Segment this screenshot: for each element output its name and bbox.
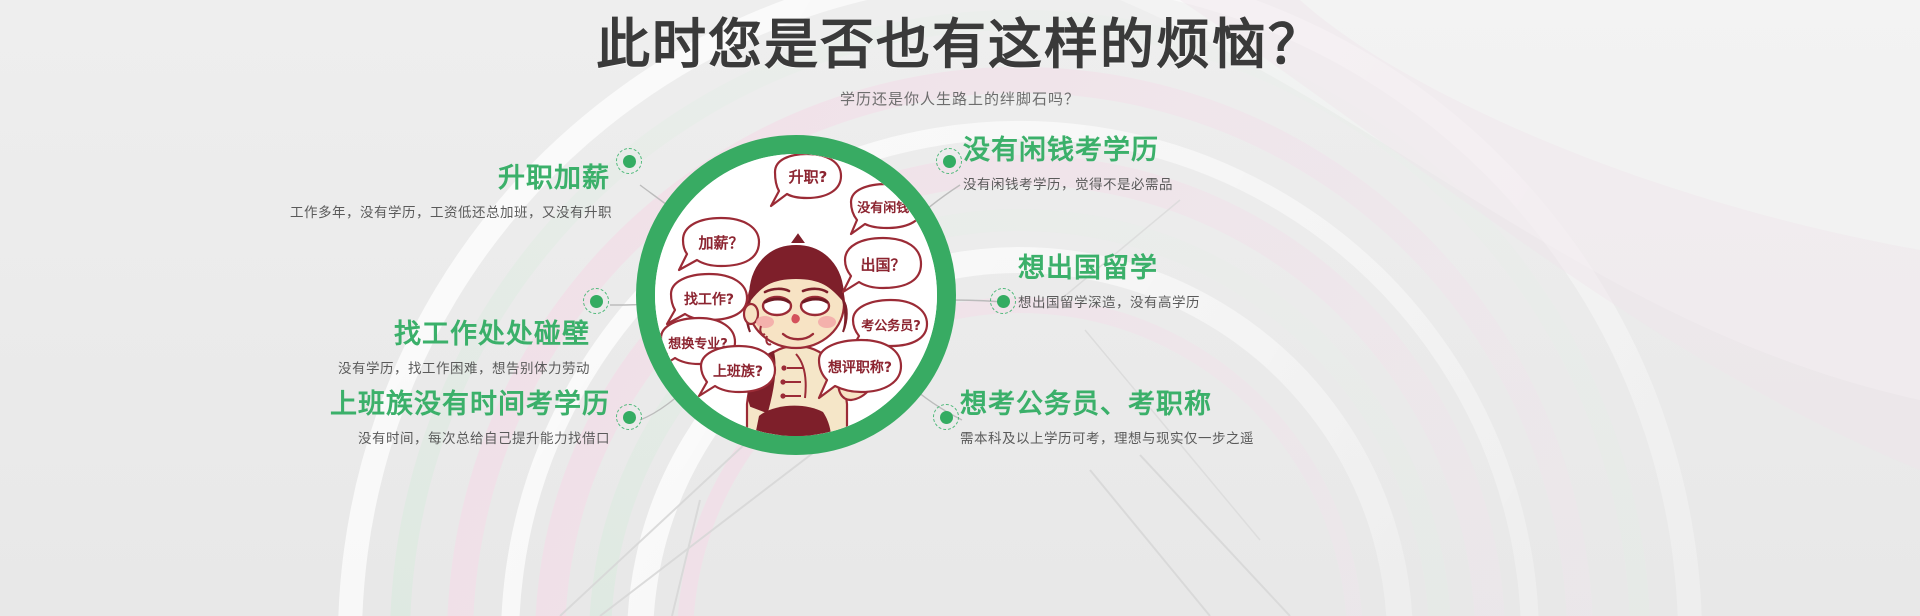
concern-item-right-2[interactable]: 想考公务员、考职称 需本科及以上学历可考，理想与现实仅一步之遥 xyxy=(960,388,1380,447)
banner-stage: 此时您是否也有这样的烦恼？ 学历还是你人生路上的绊脚石吗？ .bb{fill:#… xyxy=(0,0,1920,616)
bubble-chuguo: 出国？ xyxy=(843,238,921,292)
concern-desc: 没有学历，找工作困难，想告别体力劳动 xyxy=(270,357,590,377)
svg-text:想评职称?: 想评职称? xyxy=(827,359,892,376)
concern-item-left-1[interactable]: 找工作处处碰壁 没有学历，找工作困难，想告别体力劳动 xyxy=(270,318,590,377)
page-title: 此时您是否也有这样的烦恼？ xyxy=(0,14,1920,76)
header-block: 此时您是否也有这样的烦恼？ 学历还是你人生路上的绊脚石吗？ xyxy=(0,14,1920,109)
bubble-zhaogongzuo: 找工作? xyxy=(667,274,747,324)
concern-title: 想出国留学 xyxy=(1018,252,1398,284)
concern-desc: 没有闲钱考学历，觉得不是必需品 xyxy=(963,173,1343,193)
svg-text:加薪？: 加薪？ xyxy=(697,234,743,252)
marker-right-2 xyxy=(933,404,959,430)
concern-item-left-2[interactable]: 上班族没有时间考学历 没有时间，每次总给自己提升能力找借口 xyxy=(250,388,610,447)
marker-left-1 xyxy=(583,288,609,314)
center-ring: .bb{fill:#ffffff;stroke:#9b2b36;stroke-w… xyxy=(636,135,956,455)
marker-left-0 xyxy=(616,148,642,174)
marker-right-1 xyxy=(990,288,1016,314)
svg-text:上班族?: 上班族? xyxy=(713,363,763,380)
concern-title: 找工作处处碰壁 xyxy=(270,318,590,350)
svg-text:找工作?: 找工作? xyxy=(684,291,734,308)
concern-title: 没有闲钱考学历 xyxy=(963,134,1343,166)
concern-title: 上班族没有时间考学历 xyxy=(250,388,610,420)
svg-text:没有闲钱?: 没有闲钱? xyxy=(857,200,917,216)
concern-item-right-1[interactable]: 想出国留学 想出国留学深造，没有高学历 xyxy=(1018,252,1398,311)
marker-right-0 xyxy=(936,148,962,174)
bubble-jiaxin: 加薪？ xyxy=(679,218,759,270)
illustration-container: .bb{fill:#ffffff;stroke:#9b2b36;stroke-w… xyxy=(655,154,937,436)
concern-desc: 想出国留学深造，没有高学历 xyxy=(1018,291,1398,311)
concern-title: 升职加薪 xyxy=(290,162,610,194)
page-subtitle: 学历还是你人生路上的绊脚石吗？ xyxy=(0,88,1920,109)
concern-desc: 没有时间，每次总给自己提升能力找借口 xyxy=(250,427,610,447)
concern-item-left-0[interactable]: 升职加薪 工作多年，没有学历，工资低还总加班，又没有升职 xyxy=(290,162,610,221)
bubble-meiyouxianqian: 没有闲钱? xyxy=(851,184,923,234)
cartoon-illustration: .bb{fill:#ffffff;stroke:#9b2b36;stroke-w… xyxy=(655,154,937,436)
bubble-xiangpingzhicheng: 想评职称? xyxy=(819,340,901,398)
concern-desc: 工作多年，没有学历，工资低还总加班，又没有升职 xyxy=(290,201,610,221)
svg-text:考公务员?: 考公务员? xyxy=(861,318,921,334)
svg-text:升职?: 升职? xyxy=(789,168,828,186)
svg-text:出国？: 出国？ xyxy=(860,256,905,274)
marker-left-2 xyxy=(616,404,642,430)
concern-item-right-0[interactable]: 没有闲钱考学历 没有闲钱考学历，觉得不是必需品 xyxy=(963,134,1343,193)
concern-desc: 需本科及以上学历可考，理想与现实仅一步之遥 xyxy=(960,427,1380,447)
bubble-shengzhi: 升职? xyxy=(771,154,841,206)
concern-title: 想考公务员、考职称 xyxy=(960,388,1380,420)
